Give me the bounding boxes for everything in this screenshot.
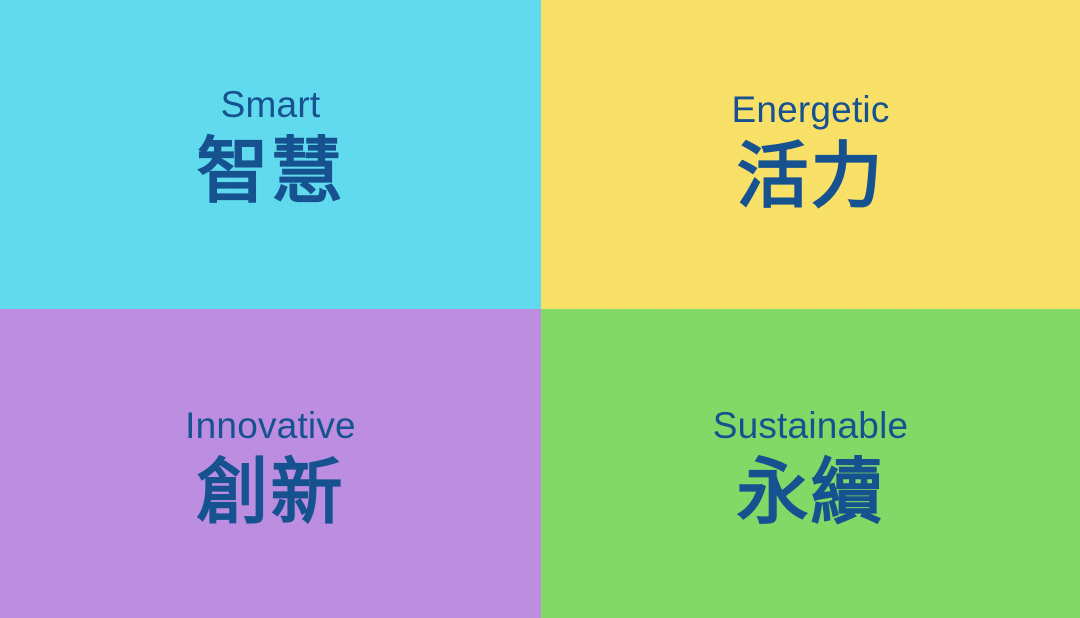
- quadrant-innovative-content: Innovative 創新: [185, 407, 356, 532]
- quadrant-energetic-label-cjk: 活力: [736, 136, 884, 217]
- quadrant-sustainable: Sustainable 永續: [541, 309, 1080, 618]
- quadrant-smart-label-en: Smart: [221, 86, 321, 125]
- quadrant-smart-label-cjk: 智慧: [196, 131, 344, 212]
- quadrant-sustainable-label-en: Sustainable: [713, 407, 909, 446]
- quadrant-sustainable-label-cjk: 永續: [736, 452, 884, 533]
- quadrant-innovative-label-cjk: 創新: [196, 452, 344, 533]
- quadrant-innovative-label-en: Innovative: [185, 407, 356, 446]
- quadrant-energetic-content: Energetic 活力: [731, 91, 889, 216]
- quadrant-smart: Smart 智慧: [0, 0, 541, 309]
- quadrant-energetic-label-en: Energetic: [731, 91, 889, 130]
- quadrant-smart-content: Smart 智慧: [196, 86, 344, 211]
- quadrant-sustainable-content: Sustainable 永續: [713, 407, 909, 532]
- brand-values-poster: Smart 智慧 Energetic 活力 Innovative 創新 Sust…: [0, 0, 1080, 618]
- quadrant-energetic: Energetic 活力: [541, 0, 1080, 309]
- quadrant-innovative: Innovative 創新: [0, 309, 541, 618]
